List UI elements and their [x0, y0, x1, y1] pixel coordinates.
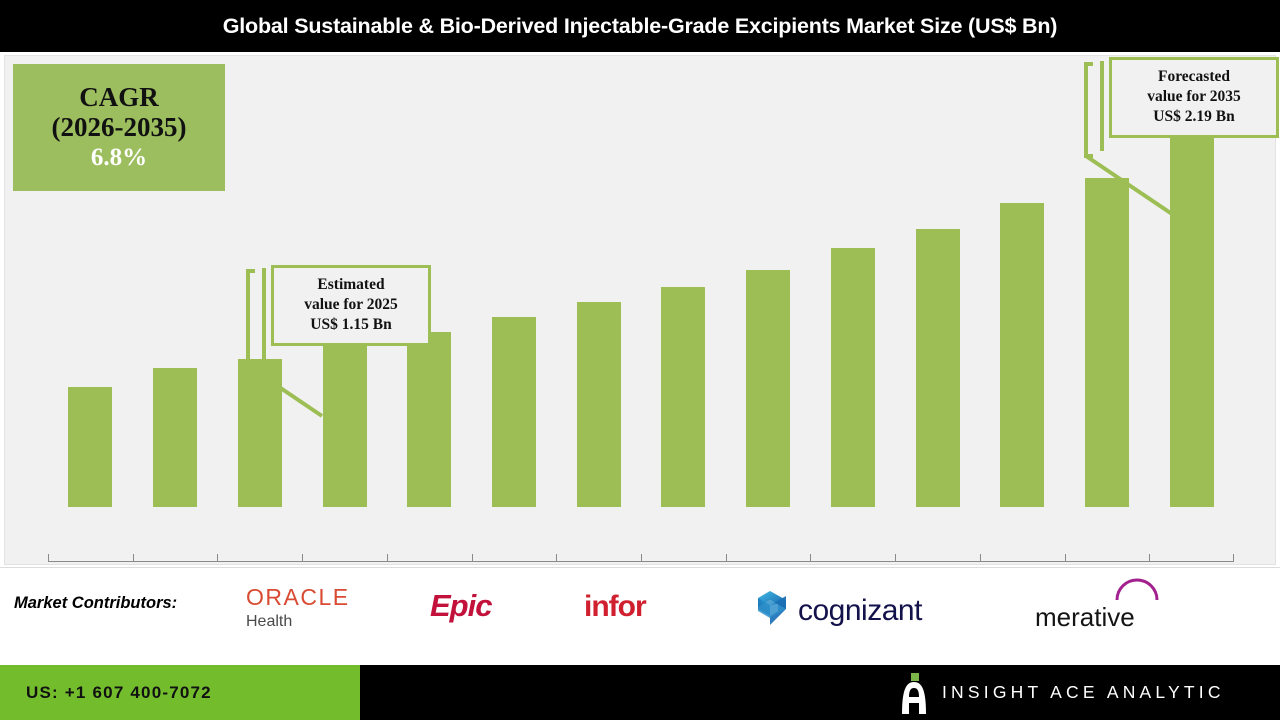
x-tick: [472, 554, 557, 562]
bar-2027[interactable]: [492, 317, 536, 507]
bar-slot: [641, 56, 726, 507]
bar-2033[interactable]: [1000, 203, 1044, 507]
x-axis-ticks: [48, 554, 1234, 562]
merative-arc-icon: [1035, 578, 1175, 602]
footer-bar: US: +1 607 400-7072 INSIGHT ACE ANALYTIC: [0, 665, 1280, 720]
x-tick: [726, 554, 811, 562]
bar-slot: [48, 56, 133, 507]
x-tick: [387, 554, 472, 562]
brand-name: INSIGHT ACE ANALYTIC: [942, 682, 1225, 703]
oracle-health-sub: Health: [246, 613, 350, 631]
bar-slot: [472, 56, 557, 507]
x-tick: [1149, 554, 1234, 562]
merative-logo: merative: [1035, 578, 1175, 633]
footer-brand-block: INSIGHT ACE ANALYTIC: [900, 665, 1225, 720]
merative-wordmark: merative: [1035, 602, 1175, 633]
title-bar: Global Sustainable & Bio-Derived Injecta…: [0, 0, 1280, 52]
cognizant-logo: cognizant: [750, 588, 922, 633]
bar-slot: [980, 56, 1065, 507]
bar-2025[interactable]: [323, 344, 367, 507]
callout-forecasted-line2: value for 2035: [1122, 87, 1266, 107]
x-tick: [217, 554, 302, 562]
x-tick: [133, 554, 218, 562]
insightace-a-logo-icon: [900, 673, 928, 713]
x-tick: [641, 554, 726, 562]
bar-2032[interactable]: [916, 229, 960, 507]
bar-2031[interactable]: [831, 248, 875, 507]
bar-series: [48, 56, 1234, 507]
epic-wordmark: Epic: [430, 588, 491, 624]
cognizant-wordmark: cognizant: [798, 594, 922, 628]
chart-panel: CAGR (2026-2035) 6.8% 2022 (A)2023 (A)20…: [4, 55, 1276, 565]
bar-slot: [810, 56, 895, 507]
bar-2034[interactable]: [1085, 178, 1129, 507]
epic-logo: Epic: [430, 588, 491, 624]
bar-2035[interactable]: [1170, 131, 1214, 507]
page-title: Global Sustainable & Bio-Derived Injecta…: [223, 14, 1057, 39]
infographic-page: Global Sustainable & Bio-Derived Injecta…: [0, 0, 1280, 720]
callout-estimated-line3: US$ 1.15 Bn: [284, 315, 418, 335]
callout-estimated-line2: value for 2025: [284, 295, 418, 315]
callout-estimated-line1: Estimated: [284, 275, 418, 295]
cognizant-hexagon-icon: [750, 588, 790, 633]
plot-area: [48, 56, 1234, 507]
bar-slot: [133, 56, 218, 507]
callout-forecasted-2035: Forecasted value for 2035 US$ 2.19 Bn: [1109, 57, 1279, 138]
oracle-health-logo: ORACLE Health: [246, 584, 350, 631]
bar-2028[interactable]: [577, 302, 621, 507]
footer-phone[interactable]: US: +1 607 400-7072: [26, 683, 212, 703]
contributors-strip: Market Contributors: ORACLE Health Epic …: [0, 567, 1280, 667]
x-tick: [48, 554, 133, 562]
callout-forecasted-line1: Forecasted: [1122, 67, 1266, 87]
bar-2022[interactable]: [68, 387, 112, 507]
bar-slot: [895, 56, 980, 507]
oracle-wordmark: ORACLE: [246, 584, 350, 611]
x-tick: [980, 554, 1065, 562]
callout-estimated-2025: Estimated value for 2025 US$ 1.15 Bn: [271, 265, 431, 346]
bar-slot: [726, 56, 811, 507]
infor-wordmark: infor: [584, 590, 646, 624]
footer-contact-block: US: +1 607 400-7072: [0, 665, 360, 720]
bar-slot: [556, 56, 641, 507]
infor-logo: infor: [584, 590, 646, 624]
bar-2026[interactable]: [407, 332, 451, 507]
x-tick: [895, 554, 980, 562]
x-tick: [556, 554, 641, 562]
bar-2030[interactable]: [746, 270, 790, 507]
bar-2024[interactable]: [238, 359, 282, 507]
bar-2029[interactable]: [661, 287, 705, 507]
callout-forecasted-line3: US$ 2.19 Bn: [1122, 107, 1266, 127]
x-tick: [302, 554, 387, 562]
x-tick: [810, 554, 895, 562]
contributors-label: Market Contributors:: [14, 594, 177, 613]
bar-2023[interactable]: [153, 368, 197, 507]
x-tick: [1065, 554, 1150, 562]
